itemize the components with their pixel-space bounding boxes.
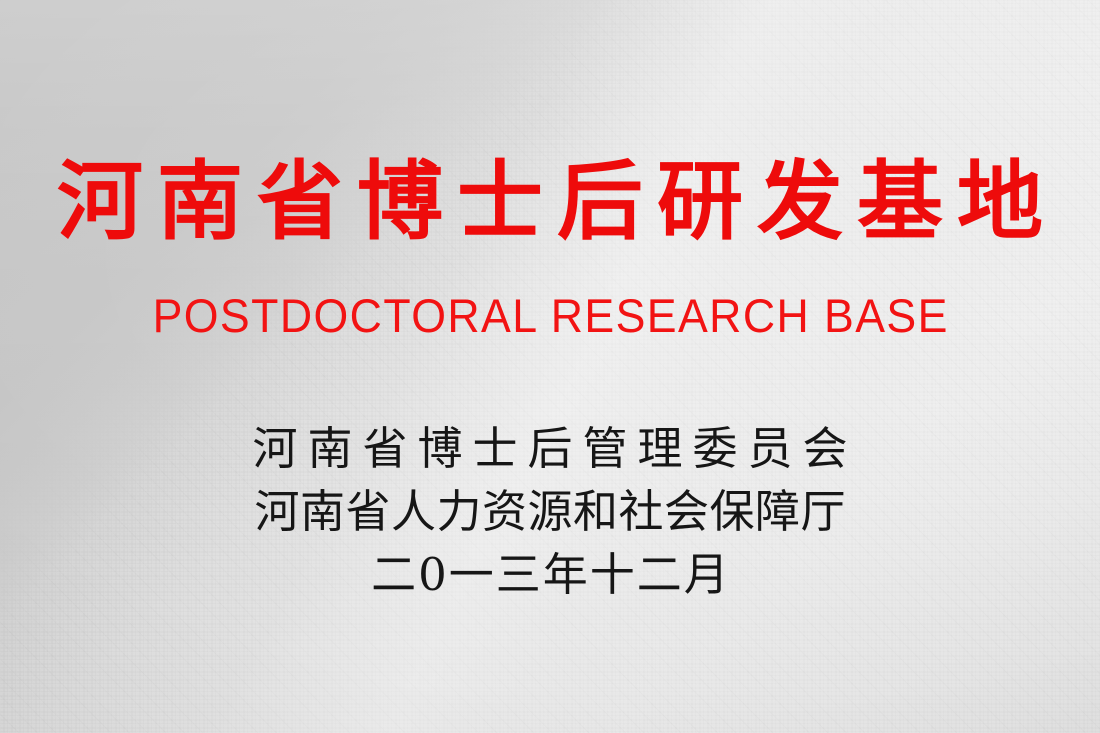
plaque-issuer-block: 河南省博士后管理委员会 河南省人力资源和社会保障厅 二0一三年十二月 [0,417,1100,606]
issuer-line-committee: 河南省博士后管理委员会 [0,417,1100,480]
plaque-issue-date: 二0一三年十二月 [0,543,1100,606]
plaque-title-chinese: 河南省博士后研发基地 [0,152,1100,252]
issuer-line-department: 河南省人力资源和社会保障厅 [0,480,1100,543]
postdoctoral-research-base-plaque: 河南省博士后研发基地 POSTDOCTORAL RESEARCH BASE 河南… [0,0,1100,733]
plaque-content: 河南省博士后研发基地 POSTDOCTORAL RESEARCH BASE 河南… [0,0,1100,733]
plaque-title-english: POSTDOCTORAL RESEARCH BASE [28,291,1073,341]
